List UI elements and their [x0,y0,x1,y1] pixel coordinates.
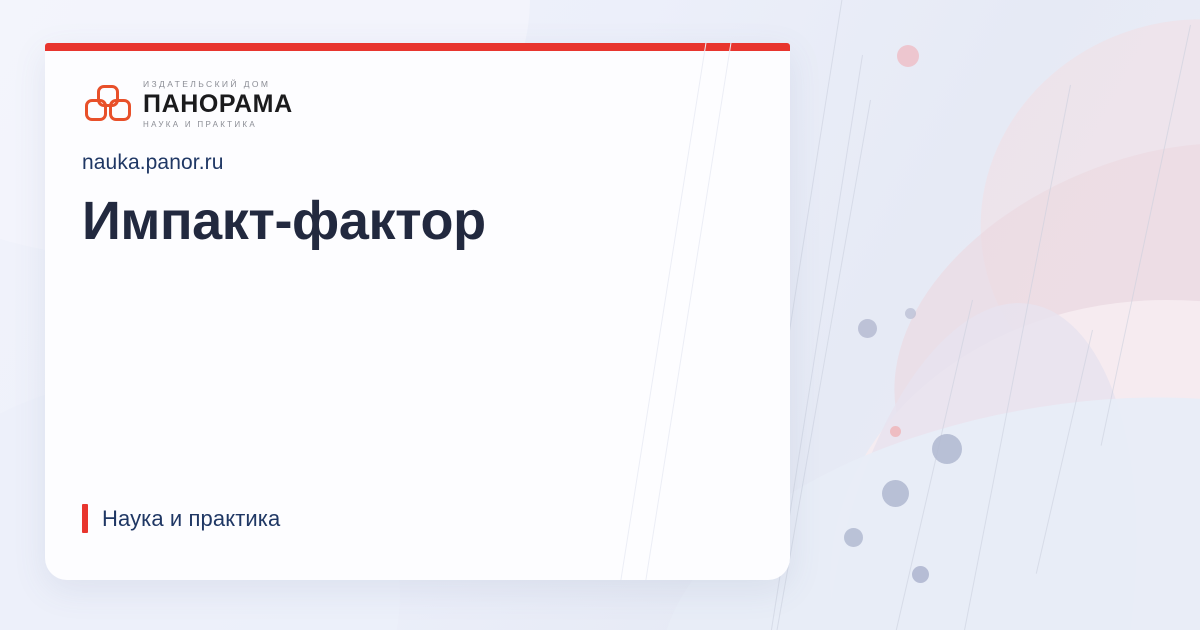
dot-grey-left [844,528,863,547]
social-card-canvas: ИЗДАТЕЛЬСКИЙ ДОМ ПАНОРАМА НАУКА И ПРАКТИ… [0,0,1200,630]
logo-subtitle: НАУКА И ПРАКТИКА [143,121,293,129]
footer-tagline-label: Наука и практика [102,506,280,532]
dot-grey-large [932,434,962,464]
panorama-blocks-logo-icon [84,84,132,124]
hairline-card-2 [633,43,743,580]
card-top-accent-bar [45,43,790,51]
card-body: ИЗДАТЕЛЬСКИЙ ДОМ ПАНОРАМА НАУКА И ПРАКТИ… [45,51,790,580]
logo-wordmark: ИЗДАТЕЛЬСКИЙ ДОМ ПАНОРАМА НАУКА И ПРАКТИ… [143,80,293,129]
dot-pink-small [890,426,901,437]
footer-tagline: Наука и практика [82,504,280,533]
dot-pink-top [897,45,919,67]
dot-grey-bottom [912,566,929,583]
dot-grey-mid [858,319,877,338]
hairline-card-1 [608,43,718,580]
logo-kicker: ИЗДАТЕЛЬСКИЙ ДОМ [143,80,293,89]
logo-name: ПАНОРАМА [143,92,293,117]
page-title: Импакт-фактор [82,191,742,251]
content-card: ИЗДАТЕЛЬСКИЙ ДОМ ПАНОРАМА НАУКА И ПРАКТИ… [45,43,790,580]
dot-grey-large2 [882,480,909,507]
footer-accent-bar [82,504,88,533]
site-url[interactable]: nauka.panor.ru [82,151,224,175]
dot-grey-small [905,308,916,319]
publisher-logo[interactable]: ИЗДАТЕЛЬСКИЙ ДОМ ПАНОРАМА НАУКА И ПРАКТИ… [84,80,293,129]
